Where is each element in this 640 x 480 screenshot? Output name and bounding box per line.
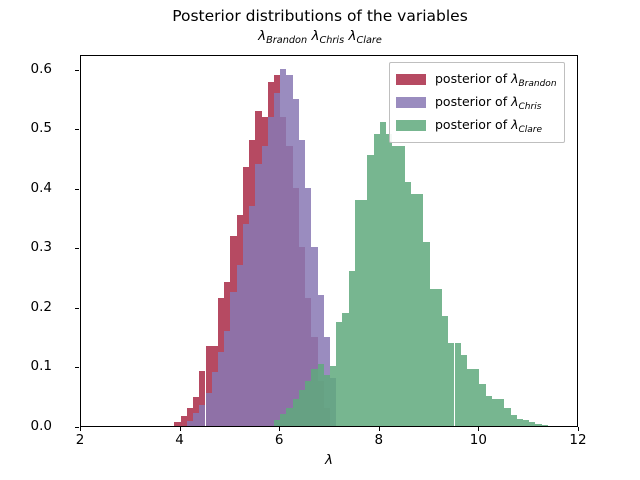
x-tick-mark — [180, 427, 181, 431]
chart-subtitle: λBrandon λChris λClare — [0, 28, 640, 46]
y-tick-mark — [75, 308, 79, 309]
x-tick-mark — [379, 427, 380, 431]
legend-color-swatch — [396, 120, 426, 131]
y-tick-label: 0.0 — [0, 418, 52, 434]
subtitle-symbol: λClare — [348, 28, 381, 44]
legend-color-swatch — [396, 97, 426, 108]
legend: posterior of λBrandonposterior of λChris… — [389, 62, 565, 143]
x-tick-mark — [80, 427, 81, 431]
x-tick-label: 12 — [558, 432, 598, 448]
legend-item[interactable]: posterior of λClare — [396, 114, 557, 137]
x-tick-label: 2 — [60, 432, 100, 448]
y-tick-mark — [75, 248, 79, 249]
y-tick-label: 0.2 — [0, 299, 52, 315]
legend-color-swatch — [396, 74, 426, 85]
x-axis-label-symbol: λ — [325, 452, 333, 468]
y-tick-label: 0.4 — [0, 180, 52, 196]
y-tick-label: 0.1 — [0, 358, 52, 374]
x-tick-label: 8 — [359, 432, 399, 448]
y-tick-label: 0.5 — [0, 120, 52, 136]
y-tick-mark — [75, 427, 79, 428]
y-tick-mark — [75, 70, 79, 71]
y-tick-label: 0.3 — [0, 239, 52, 255]
x-tick-mark — [478, 427, 479, 431]
figure: Posterior distributions of the variables… — [0, 0, 640, 480]
chart-title: Posterior distributions of the variables — [0, 7, 640, 25]
subtitle-symbol: λChris — [311, 28, 344, 44]
legend-item[interactable]: posterior of λChris — [396, 91, 557, 114]
legend-item[interactable]: posterior of λBrandon — [396, 68, 557, 91]
y-tick-mark — [75, 189, 79, 190]
y-tick-label: 0.6 — [0, 61, 52, 77]
x-tick-label: 6 — [259, 432, 299, 448]
subtitle-symbol: λBrandon — [258, 28, 307, 44]
x-tick-label: 10 — [458, 432, 498, 448]
y-tick-mark — [75, 129, 79, 130]
histogram-bar — [542, 425, 548, 426]
y-tick-mark — [75, 367, 79, 368]
legend-label: posterior of λClare — [435, 117, 542, 135]
legend-label: posterior of λBrandon — [435, 71, 557, 89]
x-axis-label: λ — [80, 452, 578, 468]
x-tick-mark — [578, 427, 579, 431]
x-tick-mark — [279, 427, 280, 431]
x-tick-label: 4 — [160, 432, 200, 448]
legend-label: posterior of λChris — [435, 94, 541, 112]
